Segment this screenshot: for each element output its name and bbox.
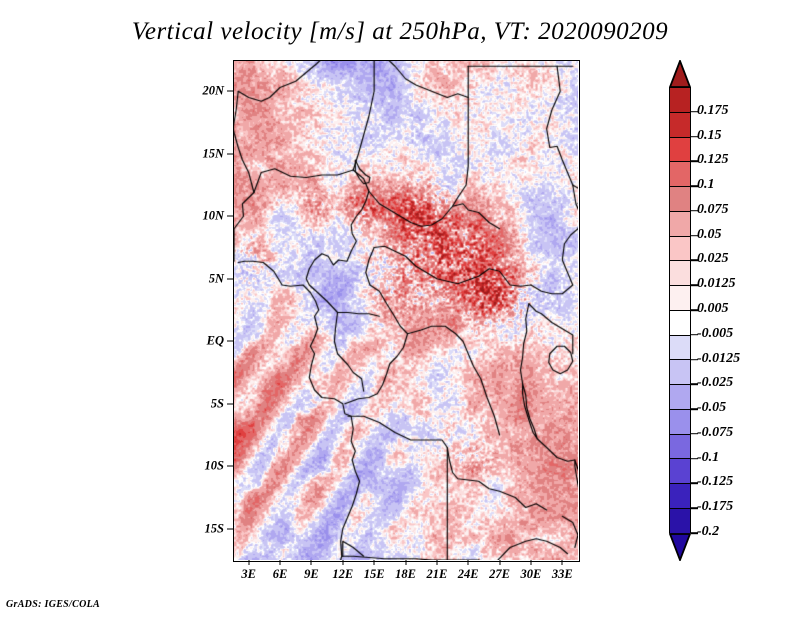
map-panel: 20N15N10N5NEQ5S10S15S 3E6E9E12E15E18E21E… — [233, 60, 578, 560]
colorbar-cap-top — [669, 60, 691, 87]
colorbar-bands — [669, 87, 691, 533]
triangle-down-icon — [669, 533, 691, 561]
colorbar-band — [670, 360, 690, 385]
colorbar-cap-bottom — [669, 533, 691, 560]
colorbar-tick-label: 0.15 — [697, 128, 722, 144]
colorbar-tick-label: -0.0125 — [697, 351, 740, 367]
colorbar-band — [670, 435, 690, 460]
colorbar-tick-label: -0.025 — [697, 375, 733, 391]
x-axis-tick-label: 27E — [489, 560, 510, 582]
colorbar-band — [670, 484, 690, 509]
colorbar-tick-label: -0.005 — [697, 326, 733, 342]
colorbar-band — [670, 237, 690, 262]
colorbar-band — [670, 311, 690, 336]
y-axis-tick-label: 10S — [205, 459, 233, 474]
x-axis-tick-label: 24E — [458, 560, 479, 582]
triangle-up-icon — [669, 60, 691, 88]
y-axis-tick-label: 5N — [209, 271, 233, 286]
y-axis-tick-label: 20N — [202, 84, 233, 99]
colorbar-band — [670, 410, 690, 435]
colorbar-tick-label: 0.075 — [697, 202, 729, 218]
colorbar-tick-label: 0.0125 — [697, 276, 736, 292]
colorbar-band — [670, 187, 690, 212]
colorbar-tick-label: -0.1 — [697, 450, 719, 466]
colorbar-tick-label: 0.125 — [697, 152, 729, 168]
x-axis-tick-label: 6E — [273, 560, 288, 582]
x-axis-tick-label: 33E — [552, 560, 573, 582]
x-axis-tick-label: 30E — [521, 560, 542, 582]
vertical-velocity-heatmap — [233, 60, 578, 560]
colorbar-band — [670, 113, 690, 138]
colorbar-band — [670, 162, 690, 187]
colorbar-tick-label: -0.125 — [697, 474, 733, 490]
colorbar-band — [670, 385, 690, 410]
colorbar-tick-label: -0.05 — [697, 400, 726, 416]
x-axis-tick-label: 9E — [304, 560, 319, 582]
colorbar: 0.1750.150.1250.10.0750.050.0250.01250.0… — [669, 60, 691, 560]
x-axis-tick-label: 21E — [426, 560, 447, 582]
colorbar-tick-label: 0.1 — [697, 177, 715, 193]
x-axis-tick-label: 18E — [395, 560, 416, 582]
x-axis-tick-label: 15E — [364, 560, 385, 582]
y-axis-tick-label: 15S — [205, 521, 233, 536]
colorbar-band — [670, 336, 690, 361]
colorbar-tick-label: -0.175 — [697, 499, 733, 515]
colorbar-tick-label: 0.05 — [697, 227, 722, 243]
x-axis-tick-label: 12E — [332, 560, 353, 582]
colorbar-tick-label: -0.075 — [697, 425, 733, 441]
y-axis-tick-label: EQ — [207, 334, 233, 349]
colorbar-tick-label: -0.2 — [697, 524, 719, 540]
colorbar-band — [670, 88, 690, 113]
colorbar-band — [670, 509, 690, 534]
colorbar-tick-label: 0.025 — [697, 251, 729, 267]
y-axis-tick-label: 10N — [202, 209, 233, 224]
y-axis-tick-label: 15N — [202, 146, 233, 161]
colorbar-tick-label: 0.005 — [697, 301, 729, 317]
page-title: Vertical velocity [m/s] at 250hPa, VT: 2… — [0, 18, 800, 46]
colorbar-band — [670, 261, 690, 286]
colorbar-band — [670, 212, 690, 237]
colorbar-band — [670, 459, 690, 484]
y-axis-tick-label: 5S — [211, 396, 233, 411]
colorbar-band — [670, 286, 690, 311]
colorbar-tick-label: 0.175 — [697, 103, 729, 119]
footer-credit: GrADS: IGES/COLA — [6, 599, 100, 610]
x-axis-tick-label: 3E — [241, 560, 256, 582]
colorbar-band — [670, 138, 690, 163]
